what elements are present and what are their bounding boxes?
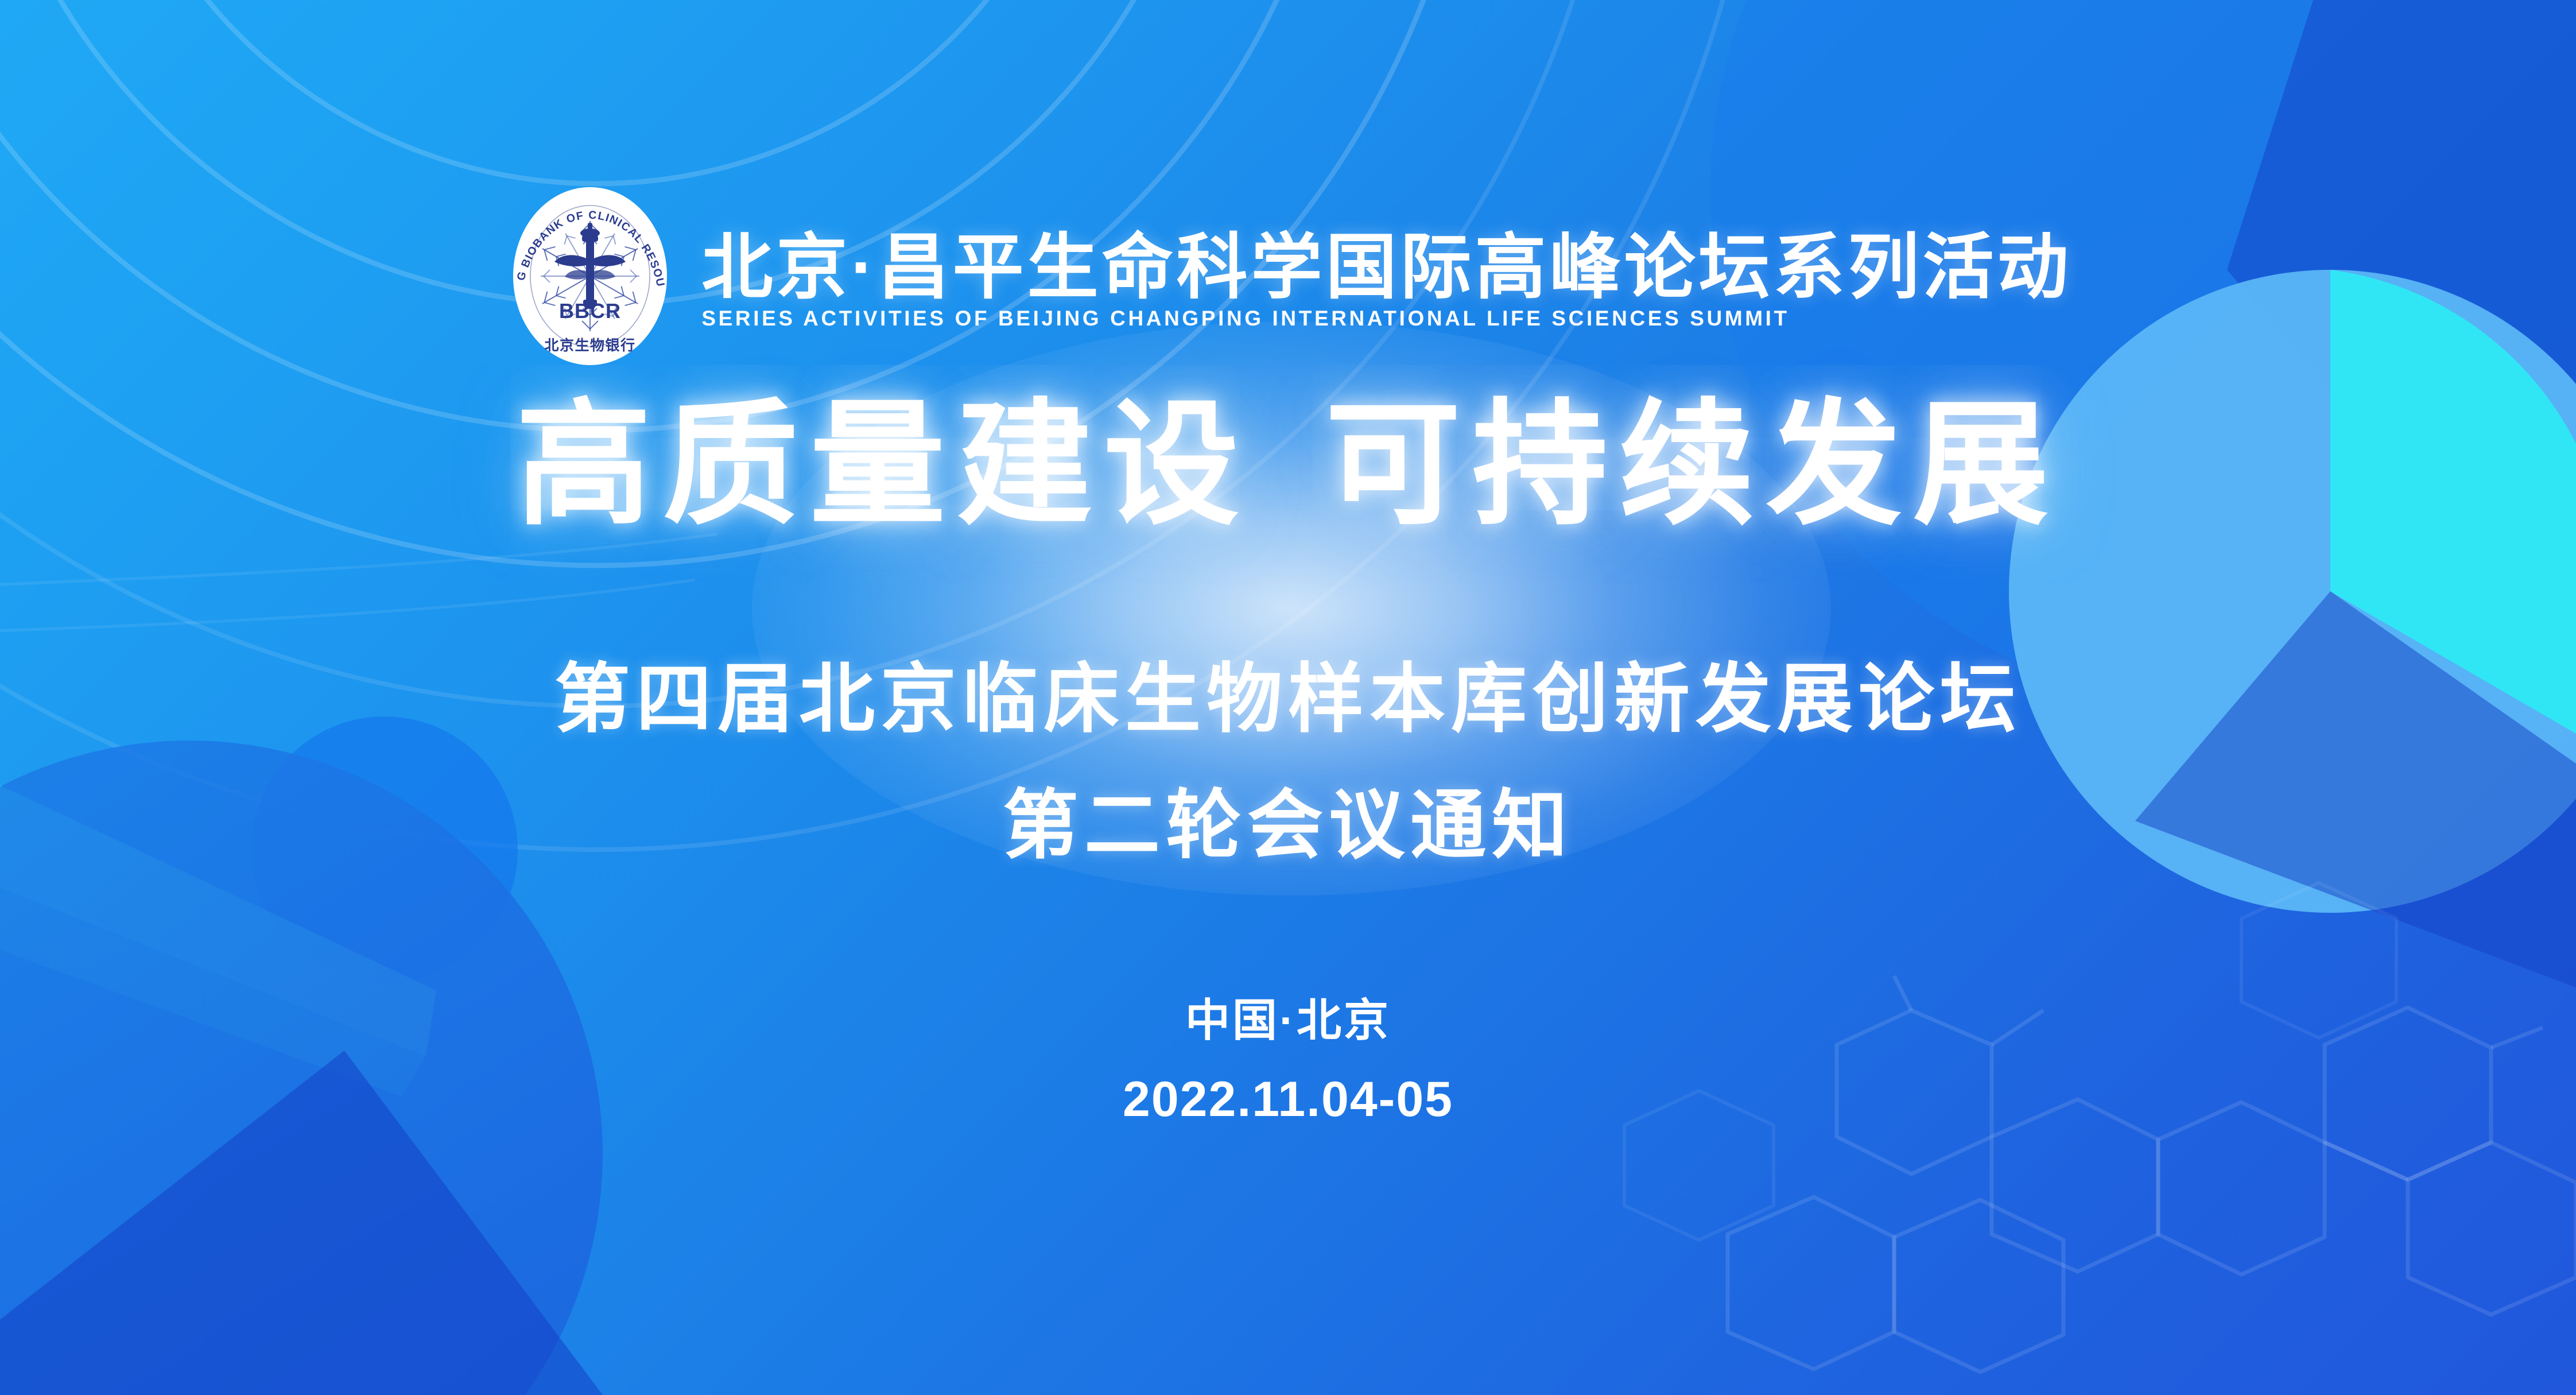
header-lockup: BEIJING BIOBANK OF CLINICAL RESOURCES BB… [0, 185, 2576, 367]
event-date: 2022.11.04-05 [0, 1075, 2576, 1124]
forum-title-line-2: 第二轮会议通知 [0, 788, 2576, 863]
banner-content: BEIJING BIOBANK OF CLINICAL RESOURCES BB… [0, 0, 2576, 1395]
conference-banner: BEIJING BIOBANK OF CLINICAL RESOURCES BB… [0, 0, 2576, 1395]
forum-title-line-1: 第四届北京临床生物样本库创新发展论坛 [0, 661, 2576, 737]
headline-part-2: 可持续发展 [1325, 389, 2060, 541]
logo-name-cn: 北京生物银行 [545, 337, 636, 354]
bbcr-logo-icon: BEIJING BIOBANK OF CLINICAL RESOURCES BB… [504, 185, 676, 367]
headline-part-1: 高质量建设 [516, 389, 1251, 541]
bbcr-logo: BEIJING BIOBANK OF CLINICAL RESOURCES BB… [504, 185, 676, 367]
main-headline: 高质量建设可持续发展 [0, 397, 2576, 533]
venue-label: 中国·北京 [0, 998, 2576, 1043]
header-text-block: 北京·昌平生命科学国际高峰论坛系列活动 SERIES ACTIVITIES OF… [701, 224, 2071, 329]
logo-acronym: BBCR [559, 299, 621, 323]
organization-title-en: SERIES ACTIVITIES OF BEIJING CHANGPING I… [701, 308, 2071, 329]
organization-title-cn: 北京·昌平生命科学国际高峰论坛系列活动 [701, 232, 2071, 303]
